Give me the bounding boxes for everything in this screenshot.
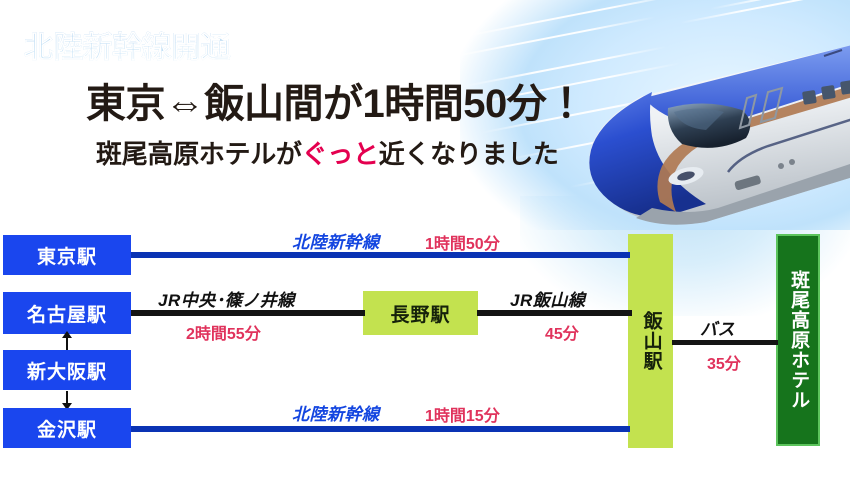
station-node-nagoya[interactable]: 名古屋駅: [3, 292, 131, 334]
station-label-kanazawa: 金沢駅: [37, 415, 97, 442]
station-label-tokyo: 東京駅: [37, 242, 97, 269]
shinkansen-train-icon: [556, 26, 850, 230]
subheadline-prefix: 斑尾高原ホテルが: [96, 139, 302, 169]
page-headline: 東京⇔飯山間が1時間50分！: [86, 71, 586, 129]
node-mandara-kogen-hotel[interactable]: 斑尾高原ホテル: [776, 234, 820, 446]
station-node-shin-osaka[interactable]: 新大阪駅: [3, 350, 131, 390]
route-label-kanazawa-shinkansen: 北陸新幹線: [292, 400, 380, 425]
station-node-iiyama[interactable]: 飯山駅: [628, 234, 673, 448]
route-label-bus: バス: [700, 315, 735, 340]
route-label-nagano-iiyama-jr: JR飯山線: [510, 286, 585, 311]
arrow-down-icon: [66, 391, 68, 404]
page-subheadline: 斑尾高原ホテルがぐっと近くなりました: [96, 134, 559, 171]
station-node-tokyo[interactable]: 東京駅: [3, 235, 131, 275]
route-time-bus: 35分: [707, 350, 741, 374]
route-label-tokyo-shinkansen: 北陸新幹線: [292, 228, 380, 253]
route-time-nagoya-jr: 2時間55分: [186, 320, 261, 344]
route-label-nagoya-jr: JR中央･篠ノ井線: [158, 286, 295, 311]
route-line-bus: [672, 340, 778, 345]
route-line-kanazawa-shinkansen: [131, 426, 630, 432]
route-time-kanazawa-shinkansen: 1時間15分: [425, 402, 500, 426]
station-label-shin-osaka: 新大阪駅: [27, 357, 107, 384]
route-time-tokyo-shinkansen: 1時間50分: [425, 230, 500, 254]
subheadline-accent: ぐっと: [302, 139, 379, 169]
route-line-tokyo-shinkansen: [131, 252, 630, 258]
arrow-up-icon: [66, 337, 68, 350]
station-node-nagano[interactable]: 長野駅: [363, 291, 478, 335]
station-node-kanazawa[interactable]: 金沢駅: [3, 408, 131, 448]
hotel-label: 斑尾高原ホテル: [788, 270, 808, 410]
station-label-iiyama: 飯山駅: [640, 311, 660, 371]
poster-canvas: 北陸新幹線開通 東京⇔飯山間が1時間50分！ 斑尾高原ホテルがぐっと近くなりまし…: [0, 0, 850, 479]
station-label-nagano: 長野駅: [390, 300, 450, 327]
page-kicker: 北陸新幹線開通: [24, 24, 231, 66]
subheadline-suffix: 近くなりました: [379, 139, 559, 169]
station-label-nagoya: 名古屋駅: [27, 300, 107, 327]
route-time-nagano-iiyama-jr: 45分: [545, 320, 579, 344]
